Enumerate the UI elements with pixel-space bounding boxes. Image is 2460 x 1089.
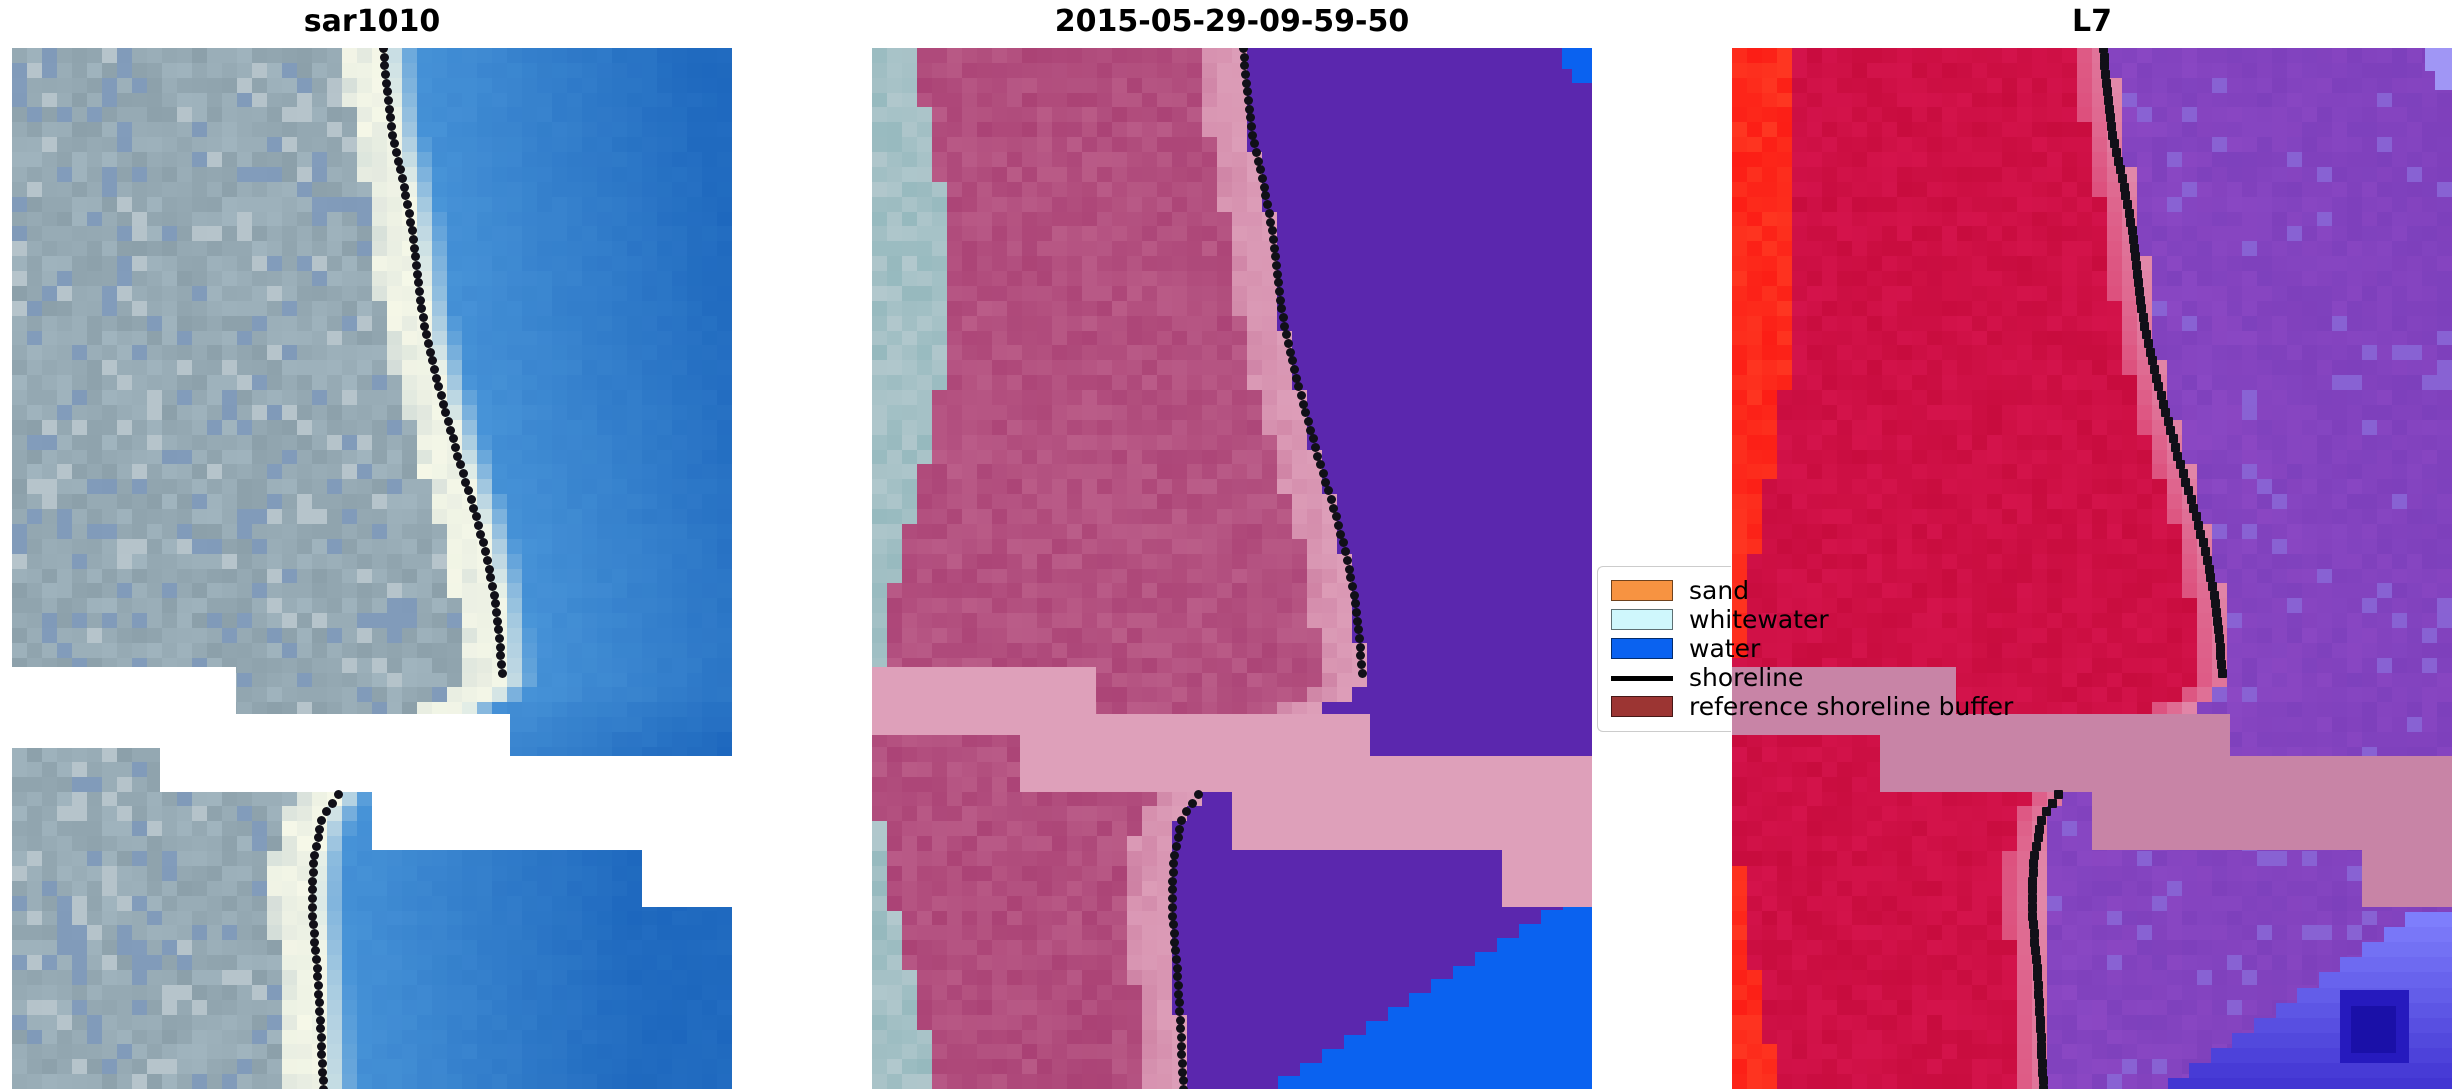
panel-classified: 2015-05-29-09-59-50	[872, 0, 1592, 1089]
figure-canvas: sar1010 2015-05-29-09-59-50 L7 sand whit…	[0, 0, 2460, 1089]
panel-classified-axes	[872, 48, 1592, 1089]
panel-sar1010-raster	[12, 48, 732, 1089]
panel-l7-raster	[1732, 48, 2452, 1089]
legend-background	[1597, 566, 1731, 732]
panel-sar1010-axes	[12, 48, 732, 1089]
panel-title-sar1010: sar1010	[12, 0, 732, 48]
panel-classified-raster	[872, 48, 1592, 1089]
panel-title-l7: L7	[1732, 0, 2452, 48]
panel-title-date: 2015-05-29-09-59-50	[872, 0, 1592, 48]
panel-l7: L7	[1732, 0, 2452, 1089]
panel-l7-axes	[1732, 48, 2452, 1089]
panel-sar1010: sar1010	[12, 0, 732, 1089]
